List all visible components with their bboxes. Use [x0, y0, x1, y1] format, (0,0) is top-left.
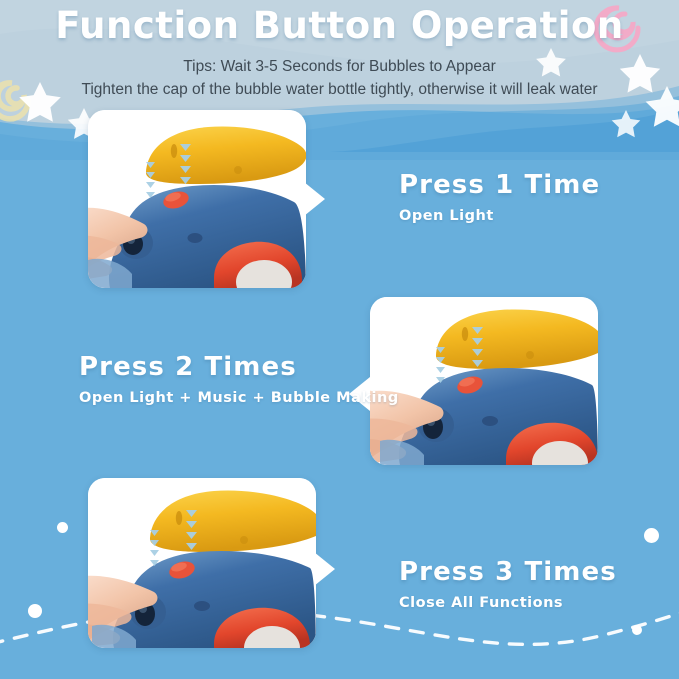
step-1-press-label: Press 1 Time — [399, 170, 600, 200]
step-2-description: Open Light + Music + Bubble Making — [79, 390, 399, 406]
product-photo-2 — [370, 297, 598, 465]
dot-decoration — [28, 604, 42, 618]
step-arrow-1 — [304, 182, 325, 216]
page-title: Function Button Operation — [0, 4, 679, 47]
step-photo-card-2 — [370, 297, 598, 465]
step-2-press-label: Press 2 Times — [79, 352, 399, 382]
step-text-1: Press 1 Time Open Light — [399, 170, 600, 224]
page-header: Function Button Operation Tips: Wait 3-5… — [0, 0, 679, 102]
step-photo-card-1 — [88, 110, 306, 288]
dot-decoration — [632, 625, 642, 635]
step-3-description: Close All Functions — [399, 595, 617, 611]
tip-line-1: Tips: Wait 3-5 Seconds for Bubbles to Ap… — [0, 56, 679, 78]
step-text-2: Press 2 Times Open Light + Music + Bubbl… — [79, 352, 399, 406]
step-text-3: Press 3 Times Close All Functions — [399, 557, 617, 611]
tip-line-2: Tighten the cap of the bubble water bott… — [0, 79, 679, 101]
step-photo-card-3 — [88, 478, 316, 648]
dot-decoration — [57, 522, 68, 533]
product-photo-1 — [88, 110, 306, 288]
step-arrow-3 — [314, 552, 335, 586]
step-1-description: Open Light — [399, 208, 600, 224]
infographic-root: Function Button Operation Tips: Wait 3-5… — [0, 0, 679, 679]
product-photo-3 — [88, 478, 316, 648]
step-3-press-label: Press 3 Times — [399, 557, 617, 587]
dot-decoration — [644, 528, 659, 543]
